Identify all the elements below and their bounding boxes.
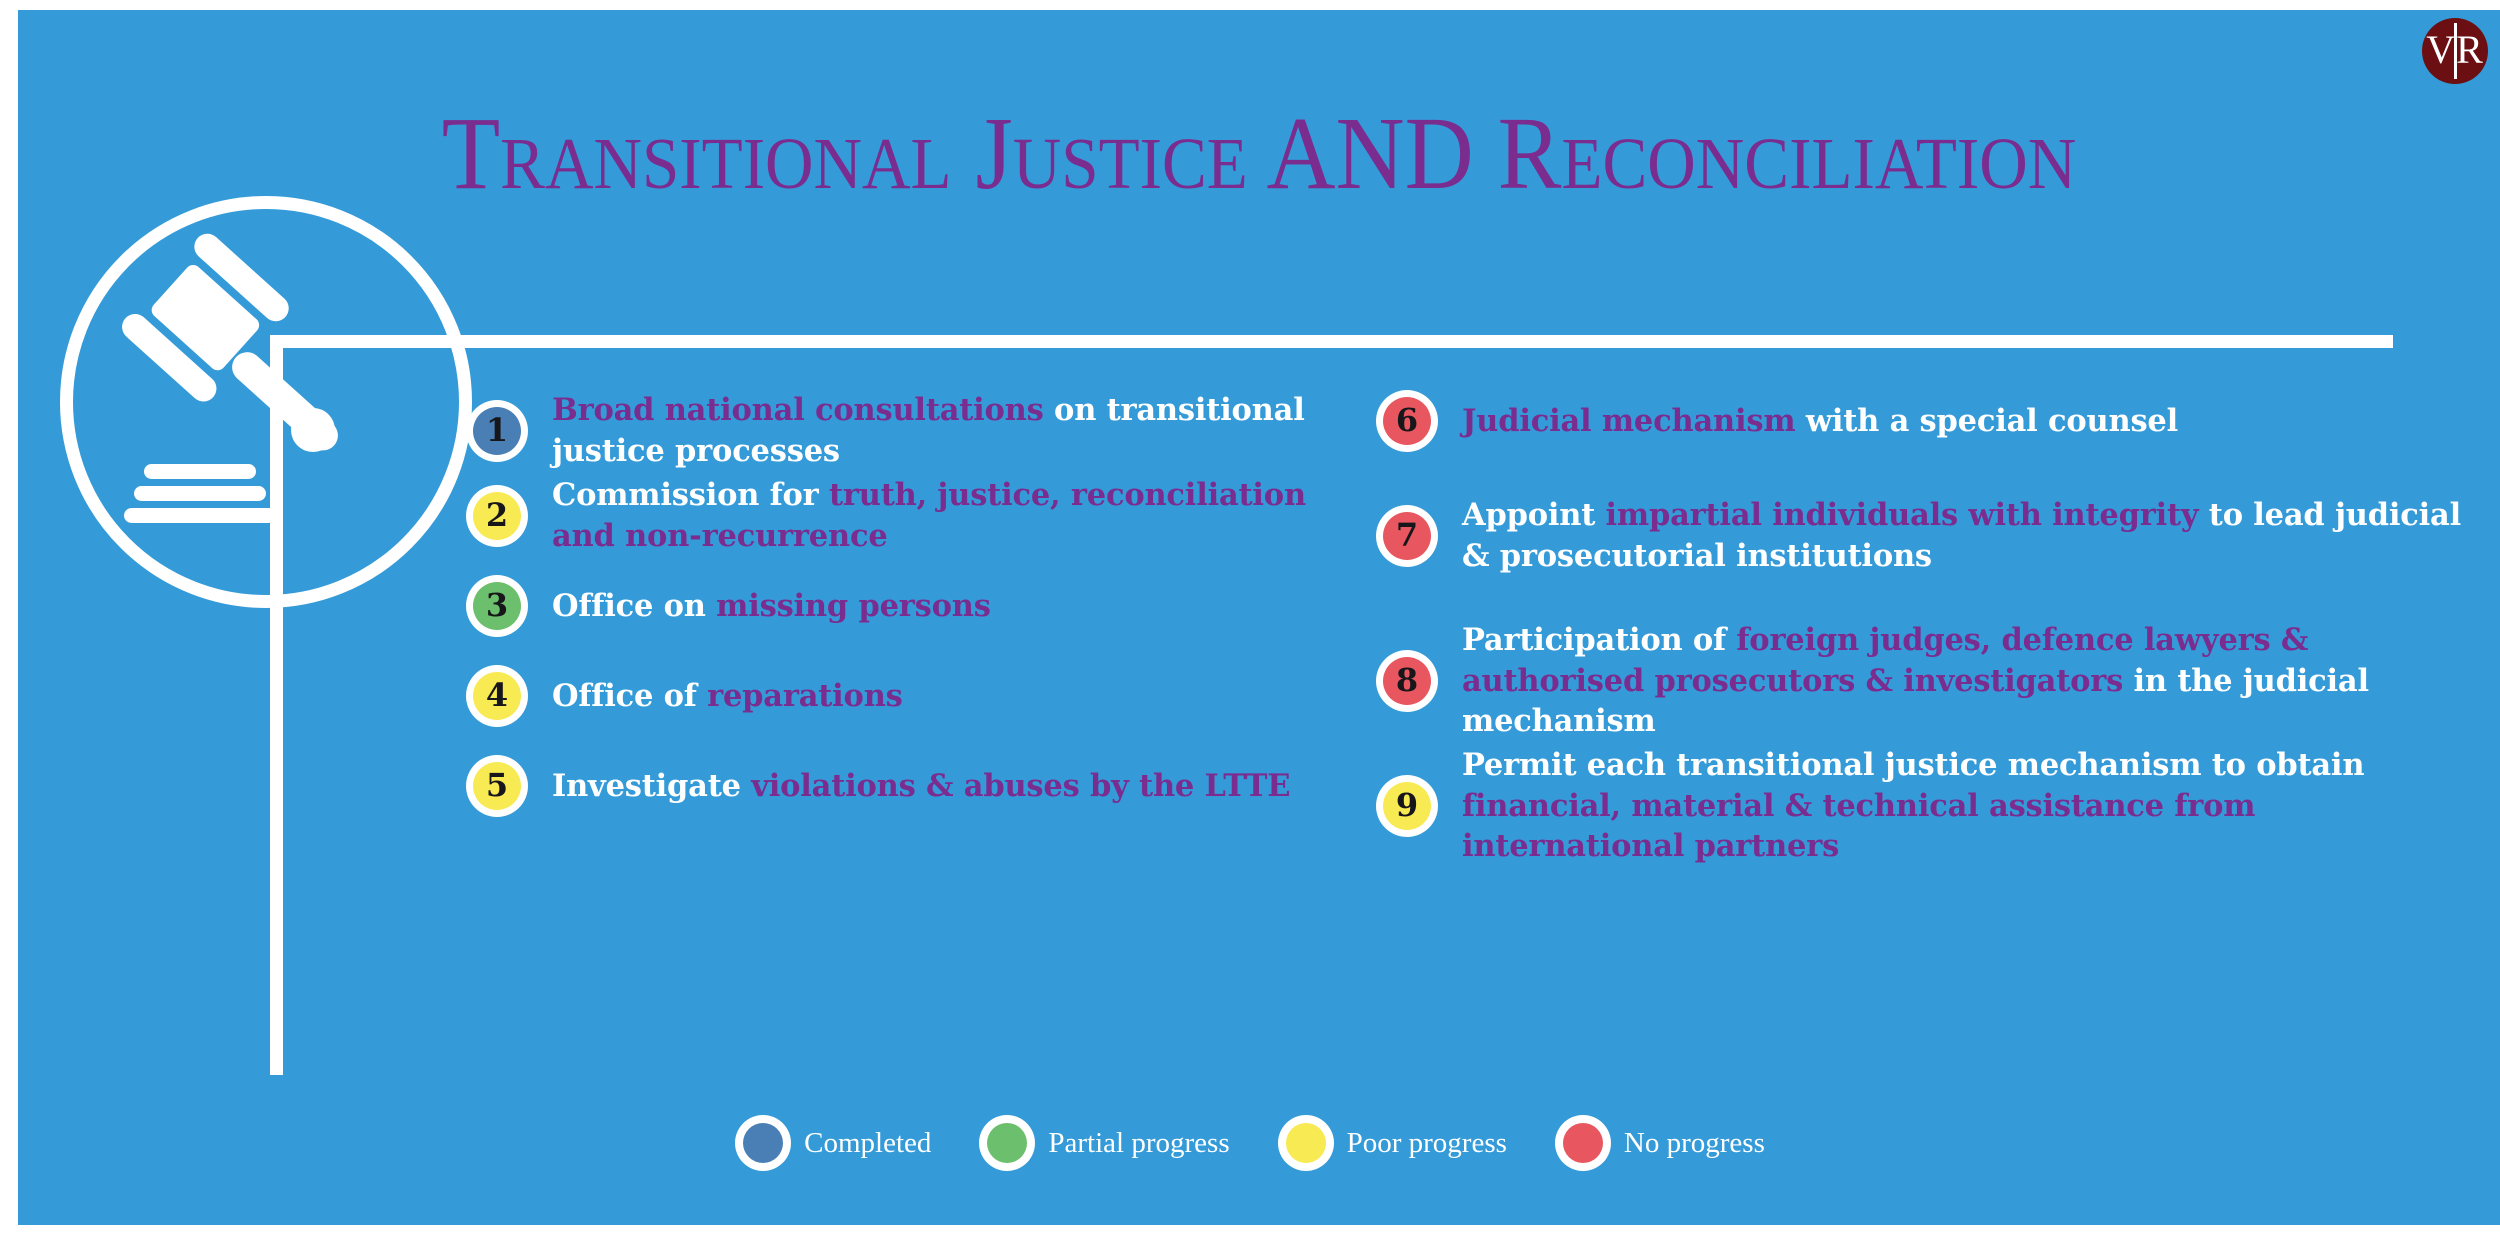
item-text: Appoint impartial individuals with integ… [1462,495,2481,576]
item-number: 4 [486,679,508,711]
item-text: Office on missing persons [552,586,991,627]
recommendation-item: 3Office on missing persons [466,575,1306,637]
gavel-emblem [60,196,472,608]
infographic-poster: VR Transitional Justice AND Reconciliati… [0,0,2500,1257]
item-number-badge: 2 [466,485,528,547]
item-number-badge-fill: 5 [473,762,521,810]
item-text: Investigate violations & abuses by the L… [552,766,1290,807]
legend-label: Poor progress [1347,1127,1525,1160]
item-number-badge: 6 [1376,390,1438,452]
recommendation-item: 4Office of reparations [466,665,1306,727]
item-text: Judicial mechanism with a special counse… [1462,401,2178,442]
item-text: Broad national consultations on transiti… [552,390,1306,471]
item-number-badge: 5 [466,755,528,817]
item-text: Participation of foreign judges, defence… [1462,620,2481,742]
item-number: 5 [486,769,508,801]
item-text: Commission for truth, justice, reconcili… [552,475,1306,556]
item-text-plain: Office of [552,678,707,714]
item-number: 9 [1396,789,1418,821]
item-number-badge-fill: 9 [1383,782,1431,830]
item-text-plain: Commission for [552,477,829,513]
gavel-icon [60,196,472,608]
item-number: 1 [486,414,508,446]
item-number: 6 [1396,404,1418,436]
recommendation-item: 8Participation of foreign judges, defenc… [1376,620,2481,742]
item-text: Permit each transitional justice mechani… [1462,745,2481,867]
item-text-highlight: Broad national consultations [552,392,1044,428]
legend: CompletedPartial progressPoor progressNo… [18,1115,2500,1171]
item-text-highlight: violations & abuses by the LTTE [751,768,1290,804]
item-number-badge: 4 [466,665,528,727]
item-number-badge-fill: 6 [1383,397,1431,445]
item-text: Office of reparations [552,676,903,717]
item-number-badge-fill: 4 [473,672,521,720]
recommendation-item: 6Judicial mechanism with a special couns… [1376,390,2481,452]
item-number: 7 [1396,519,1418,551]
recommendation-item: 9Permit each transitional justice mechan… [1376,745,2481,867]
recommendation-item: 7Appoint impartial individuals with inte… [1376,495,2481,576]
item-text-plain: Appoint [1462,497,1606,533]
legend-swatch [1278,1115,1334,1171]
vr-logo: VR [2422,18,2488,84]
item-text-plain: Office on [552,588,716,624]
item-number-badge-fill: 3 [473,582,521,630]
page-title: Transitional Justice AND Reconciliation [117,102,2400,206]
item-number-badge-fill: 7 [1383,512,1431,560]
item-number-badge: 9 [1376,775,1438,837]
legend-label: Completed [804,1127,949,1160]
legend-label: Partial progress [1048,1127,1247,1160]
item-text-plain: Participation of [1462,622,1736,658]
item-text-highlight: reparations [707,678,903,714]
legend-swatch [735,1115,791,1171]
item-text-highlight: impartial individuals with integrity [1606,497,2199,533]
item-number: 2 [486,499,508,531]
item-number-badge-fill: 8 [1383,657,1431,705]
divider-horizontal [270,335,2393,348]
item-number-badge: 1 [466,400,528,462]
item-text-highlight: Judicial mechanism [1462,403,1795,439]
poster-panel: VR Transitional Justice AND Reconciliati… [18,10,2500,1225]
divider-vertical [270,335,283,1075]
legend-item: Partial progress [979,1115,1247,1171]
legend-item: Completed [735,1115,949,1171]
legend-item: Poor progress [1278,1115,1525,1171]
recommendation-item: 5Investigate violations & abuses by the … [466,755,1306,817]
legend-item: No progress [1555,1115,1783,1171]
legend-swatch-fill [743,1123,783,1163]
legend-swatch [1555,1115,1611,1171]
item-text-plain: Investigate [552,768,751,804]
vr-logo-divider [2454,23,2457,79]
item-text-highlight: financial, material & technical assistan… [1462,788,2255,865]
item-text-plain: Permit each transitional justice mechani… [1462,747,2364,783]
recommendation-item: 2Commission for truth, justice, reconcil… [466,475,1306,556]
legend-swatch-fill [1286,1123,1326,1163]
item-number-badge: 3 [466,575,528,637]
legend-label: No progress [1624,1127,1783,1160]
item-number: 3 [486,589,508,621]
item-number-badge: 7 [1376,505,1438,567]
legend-swatch-fill [1563,1123,1603,1163]
legend-swatch [979,1115,1035,1171]
legend-swatch-fill [987,1123,1027,1163]
item-number-badge-fill: 2 [473,492,521,540]
item-number: 8 [1396,664,1418,696]
item-text-highlight: missing persons [716,588,991,624]
item-number-badge: 8 [1376,650,1438,712]
item-number-badge-fill: 1 [473,407,521,455]
recommendation-item: 1Broad national consultations on transit… [466,390,1306,471]
item-text-plain: with a special counsel [1795,403,2178,439]
